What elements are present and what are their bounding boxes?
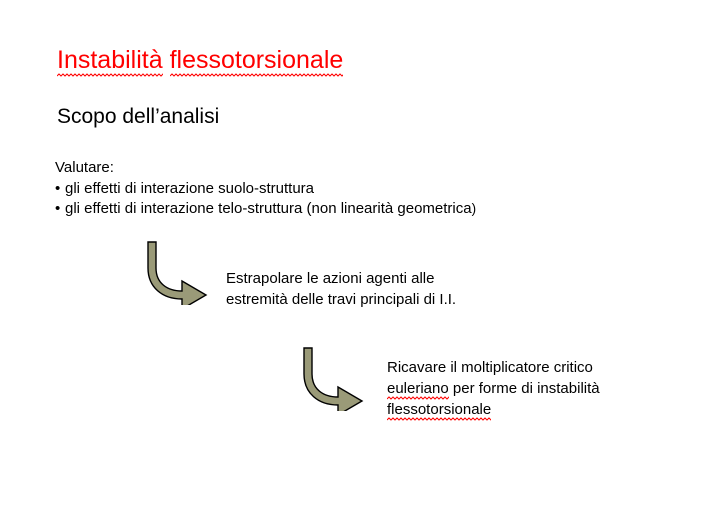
title-word-instabilita: Instabilità (57, 45, 163, 75)
bent-arrow-2-icon (296, 345, 372, 411)
callout-1-line-1: Estrapolare le azioni agenti alle (226, 268, 456, 289)
body-bullet-2-text: gli effetti di interazione telo-struttur… (65, 200, 472, 217)
slide-canvas: Instabilità flessotorsionale Scopo dell’… (0, 0, 701, 519)
callout-2-misspelled-euleriano: euleriano (387, 378, 449, 399)
bullet-marker-icon: • (55, 199, 65, 220)
callout-2: Ricavare il moltiplicatore critico euler… (387, 357, 600, 420)
bent-arrow-1-icon (140, 239, 216, 305)
body-intro-line: Valutare: (55, 158, 476, 179)
callout-2-misspelled-euleriano-text: euleriano (387, 380, 449, 397)
body-bullet-1: •gli effetti di interazione suolo-strutt… (55, 179, 476, 200)
callout-2-misspelled-flessotorsionale: flessotorsionale (387, 399, 491, 420)
callout-2-line-1: Ricavare il moltiplicatore critico (387, 357, 600, 378)
callout-2-line-3: flessotorsionale (387, 399, 600, 420)
bullet-marker-icon: • (55, 179, 65, 200)
title-word-flessotorsionale-text: flessotorsionale (170, 46, 344, 74)
title-word-instabilita-text: Instabilità (57, 46, 163, 74)
title-space (163, 46, 170, 74)
callout-2-line-2-rest: per forme di instabilità (449, 380, 600, 397)
subheading: Scopo dell’analisi (57, 104, 219, 130)
body-bullet-2: •gli effetti di interazione telo-struttu… (55, 199, 476, 220)
body-bullet-2-tail: ) (472, 201, 477, 216)
callout-2-line-2: euleriano per forme di instabilità (387, 378, 600, 399)
callout-1-line-2: estremità delle travi principali di I.I. (226, 289, 456, 310)
body-text-block: Valutare: •gli effetti di interazione su… (55, 158, 476, 220)
callout-2-misspelled-flessotorsionale-text: flessotorsionale (387, 401, 491, 418)
title-word-flessotorsionale: flessotorsionale (170, 45, 344, 75)
page-title: Instabilità flessotorsionale (57, 45, 343, 75)
body-bullet-1-text: gli effetti di interazione suolo-struttu… (65, 180, 314, 197)
callout-1: Estrapolare le azioni agenti alle estrem… (226, 268, 456, 310)
